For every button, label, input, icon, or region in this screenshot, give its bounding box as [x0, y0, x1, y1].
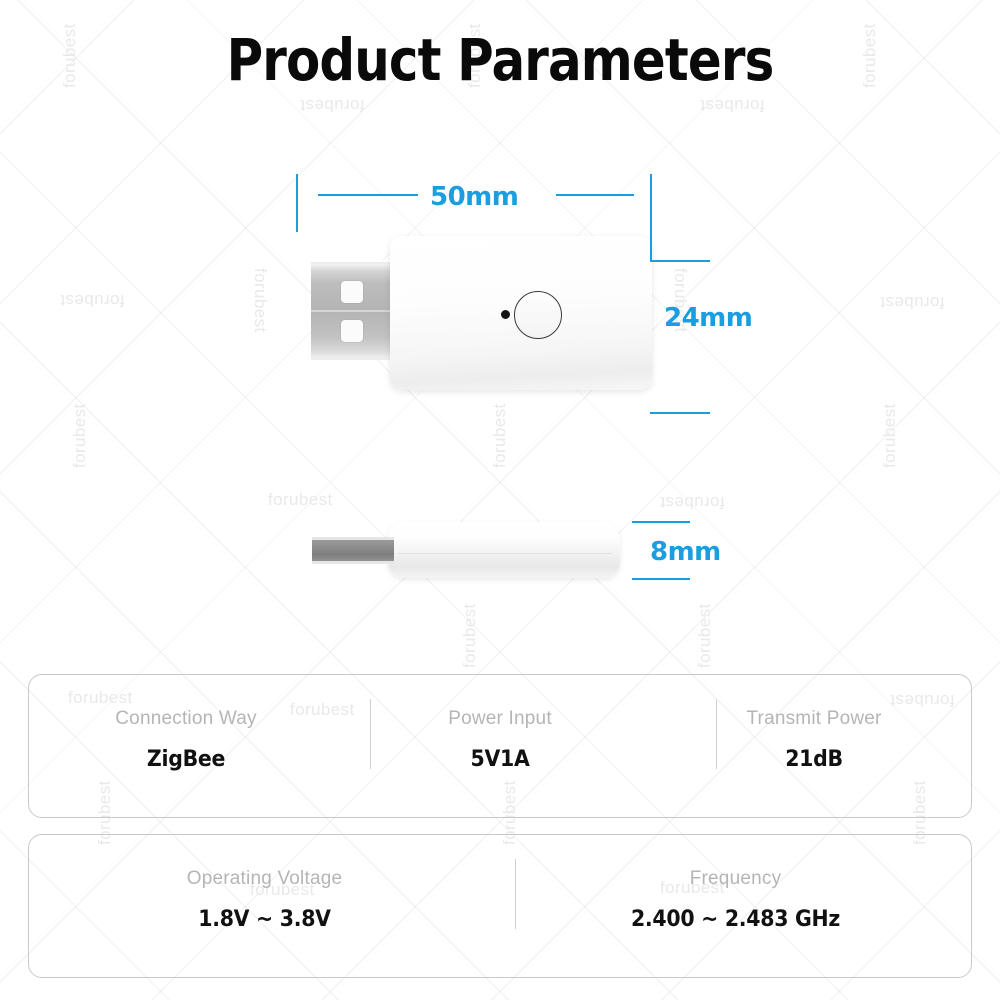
spec-column-power-input: Power Input 5V1A: [343, 675, 657, 772]
spec-label: Transmit Power: [657, 709, 971, 730]
dim-50mm-label: 50mm: [430, 182, 518, 212]
dim-24mm-label: 24mm: [664, 303, 752, 333]
spec-card-primary: Connection Way ZigBee Power Input 5V1A T…: [28, 674, 972, 818]
dim-8mm-label: 8mm: [650, 537, 721, 567]
spec-column-connection-way: Connection Way ZigBee: [29, 675, 343, 772]
column-divider: [370, 699, 371, 769]
usb-blade-bottom-edge: [312, 561, 394, 564]
spec-label: Power Input: [343, 709, 657, 730]
spec-label: Frequency: [500, 869, 971, 890]
dim-8mm-top-tick: [632, 521, 690, 523]
dim-50mm-line-left: [318, 194, 418, 196]
usb-blade: [312, 540, 394, 561]
spec-label: Operating Voltage: [29, 869, 500, 890]
column-divider: [716, 699, 717, 769]
spec-value: ZigBee: [40, 747, 332, 772]
spec-column-transmit-power: Transmit Power 21dB: [657, 675, 971, 772]
spec-value: 1.8V ~ 3.8V: [45, 907, 483, 932]
dim-24mm-vertical-line: [650, 174, 652, 262]
dim-50mm-line-right: [556, 194, 634, 196]
dim-50mm-left-tick: [296, 174, 298, 232]
dongle-side-seam: [398, 553, 612, 554]
page-title: Product Parameters: [70, 26, 930, 94]
spec-label: Connection Way: [29, 709, 343, 730]
product-side-view: [0, 0, 1000, 640]
spec-column-frequency: Frequency 2.400 ~ 2.483 GHz: [500, 835, 971, 932]
dongle-side-housing: [388, 522, 620, 578]
spec-value: 5V1A: [354, 747, 646, 772]
dim-8mm-bottom-tick: [632, 578, 690, 580]
spec-value: 2.400 ~ 2.483 GHz: [516, 907, 954, 932]
spec-card-secondary: Operating Voltage 1.8V ~ 3.8V Frequency …: [28, 834, 972, 978]
column-divider: [515, 859, 516, 929]
dim-24mm-top-tick: [650, 260, 710, 262]
spec-column-operating-voltage: Operating Voltage 1.8V ~ 3.8V: [29, 835, 500, 932]
spec-value: 21dB: [668, 747, 960, 772]
dim-24mm-bottom-tick: [650, 412, 710, 414]
